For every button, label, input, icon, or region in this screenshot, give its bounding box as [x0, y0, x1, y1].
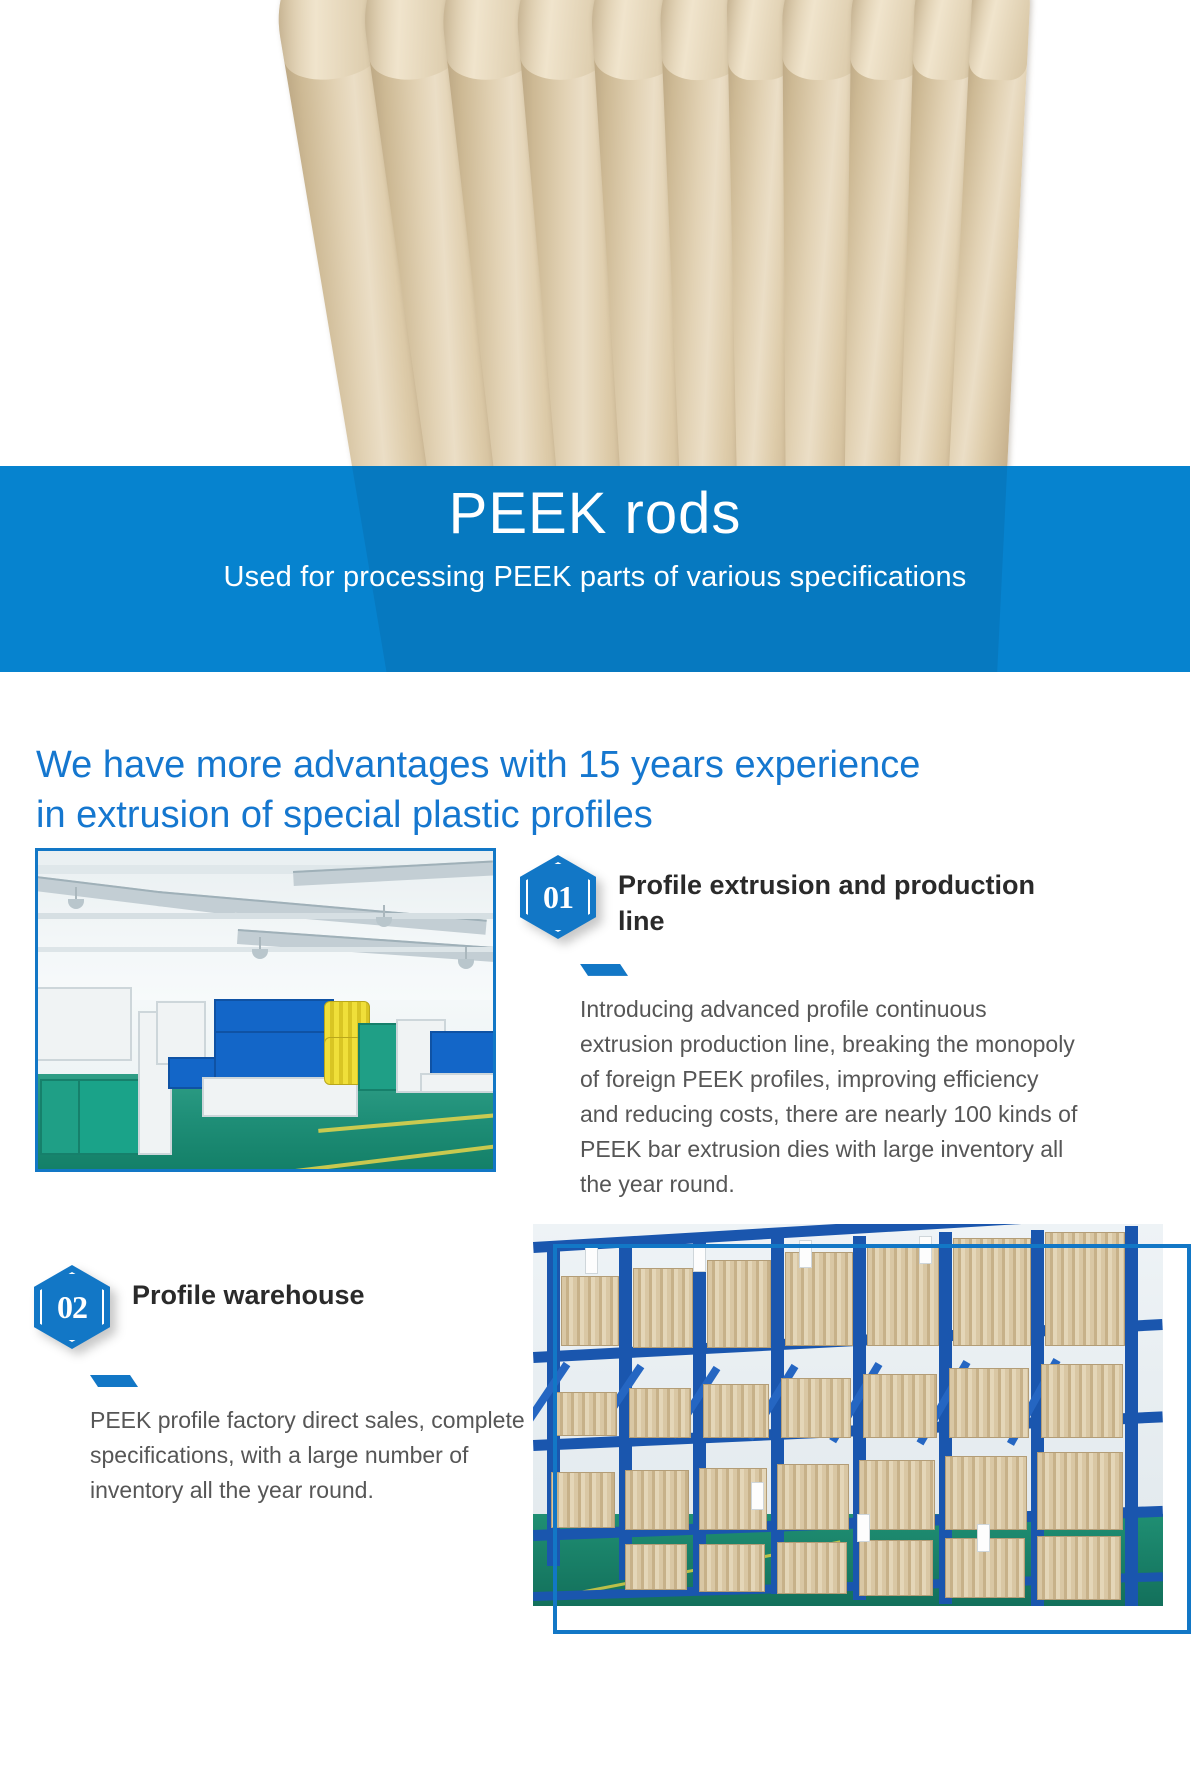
feature-body: PEEK profile factory direct sales, compl… [90, 1403, 529, 1508]
number-badge-02: 02 [34, 1265, 110, 1349]
feature-header: 01 Profile extrusion and production line [520, 855, 1080, 940]
badge-number: 02 [34, 1265, 110, 1349]
hero-banner: PEEK rods Used for processing PEEK parts… [0, 466, 1190, 672]
section-headline: We have more advantages with 15 years ex… [36, 740, 1166, 840]
badge-number: 01 [520, 855, 596, 939]
feature-title: Profile warehouse [132, 1265, 365, 1313]
page-subtitle: Used for processing PEEK parts of variou… [0, 545, 1190, 594]
feature-body: Introducing advanced profile continuous … [580, 992, 1080, 1202]
feature-body-wrap: Introducing advanced profile continuous … [580, 964, 1080, 1202]
headline-line-2: in extrusion of special plastic profiles [36, 790, 1166, 840]
headline-line-1: We have more advantages with 15 years ex… [36, 740, 1166, 790]
chevron-accent-icon [580, 964, 634, 978]
number-badge-01: 01 [520, 855, 596, 939]
hero-section: PEEK rods Used for processing PEEK parts… [0, 0, 1200, 672]
page-title: PEEK rods [0, 466, 1190, 545]
feature-block-02: 02 Profile warehouse PEEK profile factor… [34, 1265, 529, 1508]
profile-warehouse-image [533, 1224, 1163, 1606]
feature-block-01: 01 Profile extrusion and production line… [520, 855, 1080, 1202]
feature-title: Profile extrusion and production line [618, 855, 1080, 940]
feature-header: 02 Profile warehouse [34, 1265, 529, 1349]
production-line-image [35, 848, 496, 1172]
feature-body-wrap: PEEK profile factory direct sales, compl… [90, 1375, 529, 1508]
chevron-accent-icon [90, 1375, 144, 1389]
